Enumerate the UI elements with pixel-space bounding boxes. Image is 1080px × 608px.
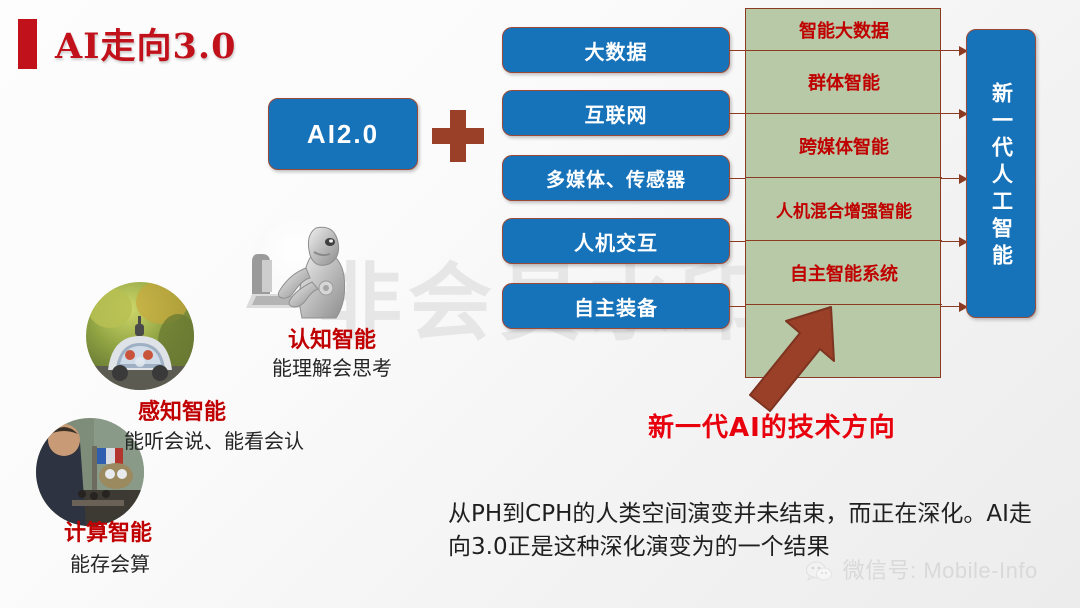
green-row-hybrid-augmented-intelligence[interactable]: 人机混合增强智能: [746, 178, 942, 241]
arrow-right-3: [941, 178, 967, 179]
title-text: AI走向3.0: [55, 18, 236, 69]
wechat-watermark: 微信号: Mobile-Info: [806, 553, 1038, 585]
direction-label: 新一代AI的技术方向: [648, 407, 896, 444]
arrow-right-2: [941, 113, 967, 114]
self-driving-car-photo: [86, 282, 194, 390]
tech-box-multimedia-sensors[interactable]: 多媒体、传感器: [502, 155, 730, 201]
level-subtitle-cognitive: 能理解会思考: [272, 352, 392, 381]
tech-box-internet[interactable]: 互联网: [502, 90, 730, 136]
level-subtitle-computational: 能存会算: [70, 548, 150, 577]
green-row-autonomous-intelligent-systems[interactable]: 自主智能系统: [746, 241, 942, 305]
ai20-box[interactable]: AI2.0: [268, 98, 418, 170]
arrow-right-5: [941, 306, 967, 307]
page-title: AI走向3.0: [18, 18, 236, 69]
tech-box-bigdata[interactable]: 大数据: [502, 27, 730, 73]
level-subtitle-perceptual: 能听会说、能看会认: [124, 425, 304, 454]
arrow-right-1: [941, 50, 967, 51]
level-title-perceptual: 感知智能: [138, 394, 226, 426]
slide-canvas: 非会员水印 AI走向3.0 AI2.0 大数据 互联网 多媒体、传感器 人机交互…: [0, 0, 1080, 608]
wechat-watermark-text: 微信号: Mobile-Info: [843, 558, 1038, 583]
level-title-cognitive: 认知智能: [288, 322, 376, 354]
level-title-computational: 计算智能: [64, 515, 152, 547]
green-row-smart-bigdata[interactable]: 智能大数据: [746, 9, 942, 51]
title-accent-bar: [18, 19, 37, 69]
tech-box-human-machine-interaction[interactable]: 人机交互: [502, 218, 730, 264]
arrow-right-4: [941, 241, 967, 242]
green-row-cross-media-intelligence[interactable]: 跨媒体智能: [746, 114, 942, 178]
emphasis-arrow-icon: [738, 305, 838, 415]
tech-box-autonomous-equipment[interactable]: 自主装备: [502, 283, 730, 329]
plus-icon: [432, 110, 484, 162]
robot-laptop-photo: [232, 216, 360, 334]
wechat-icon: [806, 561, 832, 581]
outcome-box-new-generation-ai[interactable]: 新一代人工智能: [966, 29, 1036, 318]
green-row-swarm-intelligence[interactable]: 群体智能: [746, 51, 942, 114]
